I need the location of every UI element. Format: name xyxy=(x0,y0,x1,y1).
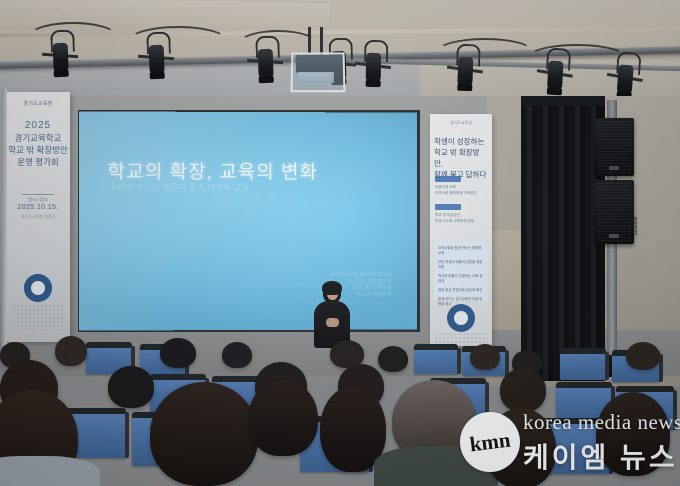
banner-date: 2025.10.15. xyxy=(6,204,70,211)
banner-logo-left: 경기도교육청 xyxy=(14,100,62,109)
slide-subtitle: 우리가 만드는 배움의 틀과 미래의 교실 xyxy=(109,182,249,193)
audience-member-front xyxy=(248,380,318,456)
banner-tag2-line-1: 학교 밖 학습공간 xyxy=(435,213,485,218)
projection-screen: 학교의 확장, 교육의 변화 우리가 만드는 배움의 틀과 미래의 교실 경기도… xyxy=(79,111,417,330)
stage-spotlight-icon xyxy=(363,40,386,86)
banner-divider xyxy=(22,194,54,195)
kmn-logo-circle: kmn xyxy=(460,412,520,472)
ceiling-cable xyxy=(436,38,534,66)
pa-loudspeaker-lower xyxy=(594,180,634,244)
banner-title-line-3: 운영 평가회 xyxy=(6,156,70,168)
banner-headline-line-2: 학교 밖 확장방안, xyxy=(434,147,488,169)
banner-box-line-2: 모든 학생의 배움과 성장을 위한 지원 xyxy=(434,256,488,270)
banner-emblem-icon xyxy=(447,304,475,332)
ceiling-cable xyxy=(528,44,626,70)
banner-dot-pattern xyxy=(12,304,64,330)
slide-title: 학교의 확장, 교육의 변화 xyxy=(107,157,317,184)
screenshot-root: 학교의 확장, 교육의 변화 우리가 만드는 배움의 틀과 미래의 교실 경기도… xyxy=(0,0,680,486)
banner-tag1-line-2: 지역사회 협력체계 구축방안 xyxy=(435,191,485,196)
audience-member-front xyxy=(150,382,258,486)
ceiling-cable xyxy=(28,22,118,52)
audience-member xyxy=(626,342,660,370)
banner-title-line-1: 경기교육학교 xyxy=(6,132,70,144)
banner-logo-right: 경기도교육청 xyxy=(430,120,492,126)
auditorium-seat xyxy=(560,348,606,380)
banner-box-line-1: 지역사회와 함께 만드는 확장형교육 xyxy=(434,242,488,256)
banner-box-line-3: 학교와 마을이 연결되는 교육 생태계 xyxy=(434,270,488,284)
banner-date-label: 일시 / 장소 xyxy=(6,197,70,203)
audience-member xyxy=(55,336,87,366)
banner-title-left: 경기교육학교 학교 밖 확장방안 운영 평가회 xyxy=(6,132,70,168)
presenter-hands xyxy=(326,318,339,327)
curtain-rail xyxy=(521,96,605,106)
audience-member xyxy=(470,344,500,370)
banner-tag1-line-1: 마을연계 교육 xyxy=(435,185,485,190)
banner-highlight-box: 지역사회와 함께 만드는 확장형교육 모든 학생의 배움과 성장을 위한 지원 … xyxy=(434,242,488,300)
watermark-korean: 케이엠 뉴스 xyxy=(523,436,678,476)
banner-headline-right: 학생이 성장하는 학교 밖 확장방안, 함께 묻고 답하다 xyxy=(434,136,488,180)
banner-tag2-line-2: 학생 주도형 교육과정 운영 xyxy=(435,219,485,224)
auditorium-seat xyxy=(414,344,458,374)
banner-emblem-icon xyxy=(24,274,52,302)
banner-place: 경기도교육청 대강당 xyxy=(6,214,70,220)
banner-box-line-4: 현장 중심 운영사례 공유와 확산 xyxy=(434,284,488,293)
left-standing-banner: 경기도교육청 2025 경기교육학교 학교 밖 확장방안 운영 평가회 일시 /… xyxy=(6,92,70,342)
banner-tag-1 xyxy=(435,176,461,182)
audience-member xyxy=(108,366,154,408)
presenter-hair xyxy=(322,281,342,295)
banner-headline-line-1: 학생이 성장하는 xyxy=(434,136,488,147)
pa-loudspeaker-upper xyxy=(594,118,634,176)
projector-mount-rod xyxy=(308,27,311,53)
audience-shoulders xyxy=(0,456,100,486)
banner-tag-2 xyxy=(435,204,461,210)
audience-member xyxy=(222,342,252,368)
projector-cage-frame xyxy=(291,52,346,92)
watermark-english: korea media news xyxy=(523,410,680,435)
audience-member xyxy=(378,346,408,372)
ceiling-cable xyxy=(128,26,228,56)
audience-member xyxy=(160,338,196,368)
banner-year: 2025 xyxy=(6,120,70,131)
banner-title-line-2: 학교 밖 확장방안 xyxy=(6,144,70,156)
kmn-logo-text: kmn xyxy=(457,409,524,476)
right-standing-banner: 경기도교육청 학생이 성장하는 학교 밖 확장방안, 함께 묻고 답하다 마을연… xyxy=(430,114,492,346)
watermark: kmn korea media news 케이엠 뉴스 xyxy=(455,398,680,484)
